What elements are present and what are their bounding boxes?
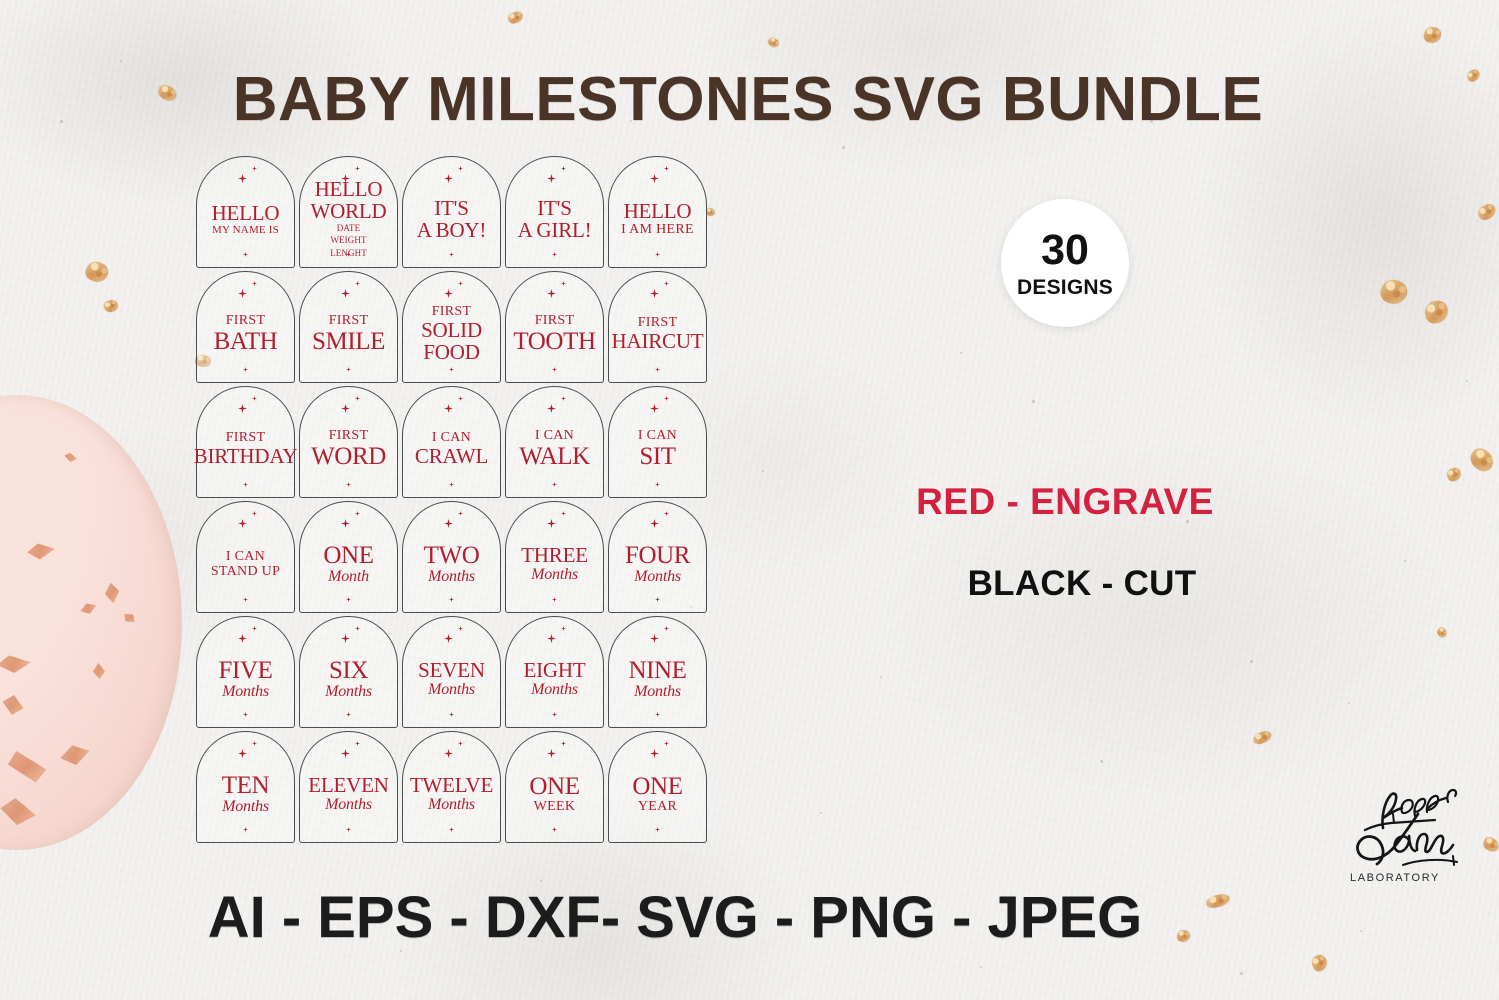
design-text-line: HELLO bbox=[212, 203, 280, 224]
gold-confetti-icon bbox=[1445, 466, 1462, 483]
design-card-i-can-crawl: I CANCRAWL bbox=[402, 386, 501, 498]
design-text-line: Months bbox=[428, 797, 475, 813]
gold-confetti-icon bbox=[1465, 67, 1482, 83]
paper-speck bbox=[1240, 972, 1243, 975]
design-text-line: TOOTH bbox=[513, 329, 595, 354]
designs-count-label: DESIGNS bbox=[1017, 277, 1113, 298]
terrazzo-flake bbox=[0, 653, 32, 674]
terrazzo-flake bbox=[79, 600, 99, 617]
paper-speck bbox=[1348, 702, 1350, 704]
terrazzo-flake bbox=[0, 796, 38, 829]
gold-confetti-icon bbox=[156, 83, 179, 103]
design-text-line: Months bbox=[531, 567, 578, 583]
design-text-line: I CAN bbox=[638, 429, 677, 443]
poster-canvas: BABY MILESTONES SVG BUNDLE HELLOMY NAME … bbox=[0, 0, 1499, 1000]
legend-red-engrave: RED - ENGRAVE bbox=[916, 481, 1214, 523]
design-card-nine-months: NINEMonths bbox=[608, 616, 707, 728]
gold-confetti-icon bbox=[766, 36, 780, 50]
paper-speck bbox=[880, 676, 882, 678]
design-card-first-tooth: FIRSTTOOTH bbox=[505, 271, 604, 383]
design-card-i-can-stand-up: I CANSTAND UP bbox=[196, 501, 295, 613]
design-text-line: HAIRCUT bbox=[612, 331, 704, 352]
design-text-line: SIX bbox=[329, 658, 368, 683]
design-card-first-smile: FIRSTSMILE bbox=[299, 271, 398, 383]
design-card-i-can-sit: I CANSIT bbox=[608, 386, 707, 498]
design-text-line: A GIRL! bbox=[518, 220, 592, 241]
design-text-line: FOOD bbox=[423, 342, 479, 363]
design-card-text: FIRSTSMILE bbox=[299, 271, 398, 383]
design-card-text: ELEVENMonths bbox=[299, 731, 398, 843]
design-text-line: HELLO bbox=[624, 201, 692, 222]
design-card-text: IT'SA BOY! bbox=[402, 156, 501, 268]
terrazzo-flake bbox=[63, 451, 78, 464]
design-text-line: WEIGHT bbox=[330, 235, 366, 246]
design-text-line: WORD bbox=[311, 444, 386, 469]
paper-speck bbox=[762, 470, 764, 472]
design-card-text: ONEYEAR bbox=[608, 731, 707, 843]
design-text-line: FIRST bbox=[638, 316, 678, 330]
blush-terrazzo-circle bbox=[0, 395, 182, 850]
design-text-line: FIRST bbox=[535, 314, 575, 328]
design-card-hello-world: HELLOWORLDDATEWEIGHTLENGHT bbox=[299, 156, 398, 268]
design-text-line: TWO bbox=[424, 543, 480, 568]
designs-grid: HELLOMY NAME ISHELLOWORLDDATEWEIGHTLENGH… bbox=[196, 156, 707, 846]
gold-confetti-icon bbox=[1423, 299, 1449, 325]
design-text-line: WALK bbox=[519, 444, 590, 469]
design-text-line: FIRST bbox=[432, 305, 472, 319]
design-card-eleven-months: ELEVENMonths bbox=[299, 731, 398, 843]
design-card-text: I CANWALK bbox=[505, 386, 604, 498]
design-card-text: FOURMonths bbox=[608, 501, 707, 613]
design-text-line: Months bbox=[531, 682, 578, 698]
design-card-text: ONEMonth bbox=[299, 501, 398, 613]
design-card-text: SEVENMonths bbox=[402, 616, 501, 728]
design-text-line: I CAN bbox=[432, 431, 471, 445]
design-card-four-months: FOURMonths bbox=[608, 501, 707, 613]
gold-confetti-icon bbox=[1435, 626, 1448, 639]
design-text-line: NINE bbox=[628, 658, 686, 683]
design-text-line: Month bbox=[328, 569, 369, 585]
design-card-first-bath: FIRSTBATH bbox=[196, 271, 295, 383]
paper-speck bbox=[60, 120, 63, 123]
design-card-i-can-walk: I CANWALK bbox=[505, 386, 604, 498]
design-text-line: Months bbox=[222, 799, 269, 815]
design-card-first-solid-food: FIRSTSOLIDFOOD bbox=[402, 271, 501, 383]
gold-confetti-icon bbox=[1423, 26, 1443, 45]
design-text-line: DATE bbox=[337, 223, 360, 234]
design-text-line: SIT bbox=[639, 444, 675, 469]
design-text-line: WEEK bbox=[534, 800, 576, 814]
brand-logo-subtitle: LABORATORY bbox=[1305, 872, 1485, 884]
design-card-text: THREEMonths bbox=[505, 501, 604, 613]
design-text-line: IT'S bbox=[434, 198, 468, 219]
design-card-text: TWOMonths bbox=[402, 501, 501, 613]
design-card-five-months: FIVEMonths bbox=[196, 616, 295, 728]
design-card-text: FIRSTSOLIDFOOD bbox=[402, 271, 501, 383]
designs-count-number: 30 bbox=[1041, 229, 1089, 272]
design-card-one-week: ONEWEEK bbox=[505, 731, 604, 843]
design-text-line: Months bbox=[325, 797, 372, 813]
gold-confetti-icon bbox=[1466, 445, 1497, 475]
design-card-text: IT'SA GIRL! bbox=[505, 156, 604, 268]
design-card-text: EIGHTMonths bbox=[505, 616, 604, 728]
design-card-text: FIVEMonths bbox=[196, 616, 295, 728]
design-text-line: A BOY! bbox=[417, 220, 486, 241]
gold-confetti-icon bbox=[1310, 953, 1330, 973]
design-text-line: SMILE bbox=[312, 329, 385, 354]
design-text-line: EIGHT bbox=[524, 660, 586, 681]
design-text-line: LENGHT bbox=[330, 248, 367, 259]
design-text-line: HELLO bbox=[315, 179, 383, 200]
design-text-line: CRAWL bbox=[415, 446, 488, 467]
terrazzo-flake bbox=[5, 750, 49, 785]
designs-count-badge: 30 DESIGNS bbox=[1001, 199, 1129, 327]
paper-speck bbox=[960, 352, 962, 354]
design-text-line: I CAN bbox=[226, 550, 265, 564]
design-card-its-a-girl: IT'SA GIRL! bbox=[505, 156, 604, 268]
design-card-seven-months: SEVENMonths bbox=[402, 616, 501, 728]
design-card-text: I CANSTAND UP bbox=[196, 501, 295, 613]
brand-logo: LABORATORY bbox=[1305, 768, 1485, 898]
design-card-twelve-months: TWELVEMonths bbox=[402, 731, 501, 843]
design-card-text: HELLOI AM HERE bbox=[608, 156, 707, 268]
paper-speck bbox=[120, 60, 122, 62]
gold-confetti-icon bbox=[1252, 729, 1273, 745]
paper-speck bbox=[1032, 400, 1035, 403]
gold-confetti-icon bbox=[83, 258, 111, 285]
terrazzo-flake bbox=[121, 610, 137, 625]
gold-confetti-icon bbox=[507, 10, 524, 24]
gold-confetti-icon bbox=[102, 298, 119, 314]
design-text-line: ONE bbox=[323, 543, 373, 568]
legend-black-cut: BLACK - CUT bbox=[968, 564, 1197, 604]
design-card-eight-months: EIGHTMonths bbox=[505, 616, 604, 728]
design-card-hello-i-am-here: HELLOI AM HERE bbox=[608, 156, 707, 268]
paper-speck bbox=[1360, 930, 1362, 932]
design-text-line: ELEVEN bbox=[308, 775, 388, 796]
terrazzo-flake bbox=[26, 540, 57, 561]
gold-confetti-icon bbox=[1378, 277, 1410, 308]
design-card-text: ONEWEEK bbox=[505, 731, 604, 843]
paper-speck bbox=[1466, 380, 1468, 382]
design-card-one-year: ONEYEAR bbox=[608, 731, 707, 843]
design-card-text: HELLOWORLDDATEWEIGHTLENGHT bbox=[299, 156, 398, 268]
design-card-hello-my-name-is: HELLOMY NAME IS bbox=[196, 156, 295, 268]
design-card-text: FIRSTWORD bbox=[299, 386, 398, 498]
design-text-line: TWELVE bbox=[410, 775, 493, 796]
design-text-line: FIRST bbox=[329, 429, 369, 443]
design-text-line: STAND UP bbox=[211, 565, 280, 579]
design-card-ten-months: TENMonths bbox=[196, 731, 295, 843]
design-card-text: TENMonths bbox=[196, 731, 295, 843]
design-card-text: HELLOMY NAME IS bbox=[196, 156, 295, 268]
design-text-line: Months bbox=[428, 569, 475, 585]
design-text-line: I CAN bbox=[535, 429, 574, 443]
design-text-line: Months bbox=[325, 684, 372, 700]
paper-speck bbox=[842, 146, 845, 149]
design-text-line: Months bbox=[634, 684, 681, 700]
design-card-first-birthday: FIRSTBIRTHDAY bbox=[196, 386, 295, 498]
design-card-two-months: TWOMonths bbox=[402, 501, 501, 613]
design-card-text: FIRSTHAIRCUT bbox=[608, 271, 707, 383]
design-card-text: SIXMonths bbox=[299, 616, 398, 728]
design-text-line: TEN bbox=[222, 773, 269, 798]
file-formats-line: AI - EPS - DXF- SVG - PNG - JPEG bbox=[150, 884, 1200, 951]
page-title: BABY MILESTONES SVG BUNDLE bbox=[188, 64, 1308, 135]
design-text-line: MY NAME IS bbox=[212, 225, 279, 236]
design-text-line: BIRTHDAY bbox=[194, 446, 298, 467]
design-text-line: IT'S bbox=[537, 198, 571, 219]
gold-confetti-icon bbox=[1476, 202, 1498, 222]
paper-speck bbox=[540, 880, 542, 882]
paper-speck bbox=[1100, 760, 1103, 763]
paper-speck bbox=[820, 812, 822, 814]
design-text-line: FOUR bbox=[625, 543, 690, 568]
terrazzo-flake bbox=[0, 693, 26, 717]
design-text-line: Months bbox=[222, 684, 269, 700]
design-text-line: SEVEN bbox=[418, 660, 485, 681]
design-text-line: Months bbox=[428, 682, 475, 698]
paper-jam-script-logo-icon bbox=[1305, 768, 1485, 878]
design-text-line: THREE bbox=[521, 545, 588, 566]
paper-speck bbox=[1404, 560, 1406, 562]
design-card-text: I CANSIT bbox=[608, 386, 707, 498]
terrazzo-flake bbox=[92, 663, 105, 680]
design-card-text: FIRSTBIRTHDAY bbox=[196, 386, 295, 498]
design-text-line: BATH bbox=[214, 329, 278, 354]
design-card-text: I CANCRAWL bbox=[402, 386, 501, 498]
design-text-line: SOLID bbox=[421, 320, 482, 341]
terrazzo-flake bbox=[58, 741, 92, 768]
gold-confetti-icon bbox=[1205, 893, 1231, 910]
paper-speck bbox=[1250, 660, 1253, 663]
design-card-one-month: ONEMonth bbox=[299, 501, 398, 613]
paper-speck bbox=[980, 966, 982, 968]
design-card-text: FIRSTBATH bbox=[196, 271, 295, 383]
design-text-line: YEAR bbox=[638, 800, 677, 814]
design-card-text: NINEMonths bbox=[608, 616, 707, 728]
design-text-line: FIRST bbox=[226, 431, 266, 445]
design-card-text: TWELVEMonths bbox=[402, 731, 501, 843]
design-text-line: Months bbox=[634, 569, 681, 585]
design-card-first-word: FIRSTWORD bbox=[299, 386, 398, 498]
design-text-line: WORLD bbox=[311, 201, 387, 222]
design-card-three-months: THREEMonths bbox=[505, 501, 604, 613]
design-text-line: ONE bbox=[632, 774, 682, 799]
design-text-line: ONE bbox=[529, 774, 579, 799]
design-text-line: FIRST bbox=[226, 314, 266, 328]
design-text-line: FIRST bbox=[329, 314, 369, 328]
design-card-six-months: SIXMonths bbox=[299, 616, 398, 728]
design-text-line: I AM HERE bbox=[621, 223, 694, 237]
design-card-its-a-boy: IT'SA BOY! bbox=[402, 156, 501, 268]
design-card-first-haircut: FIRSTHAIRCUT bbox=[608, 271, 707, 383]
design-card-text: FIRSTTOOTH bbox=[505, 271, 604, 383]
terrazzo-flake bbox=[104, 582, 121, 604]
design-text-line: FIVE bbox=[219, 658, 273, 683]
